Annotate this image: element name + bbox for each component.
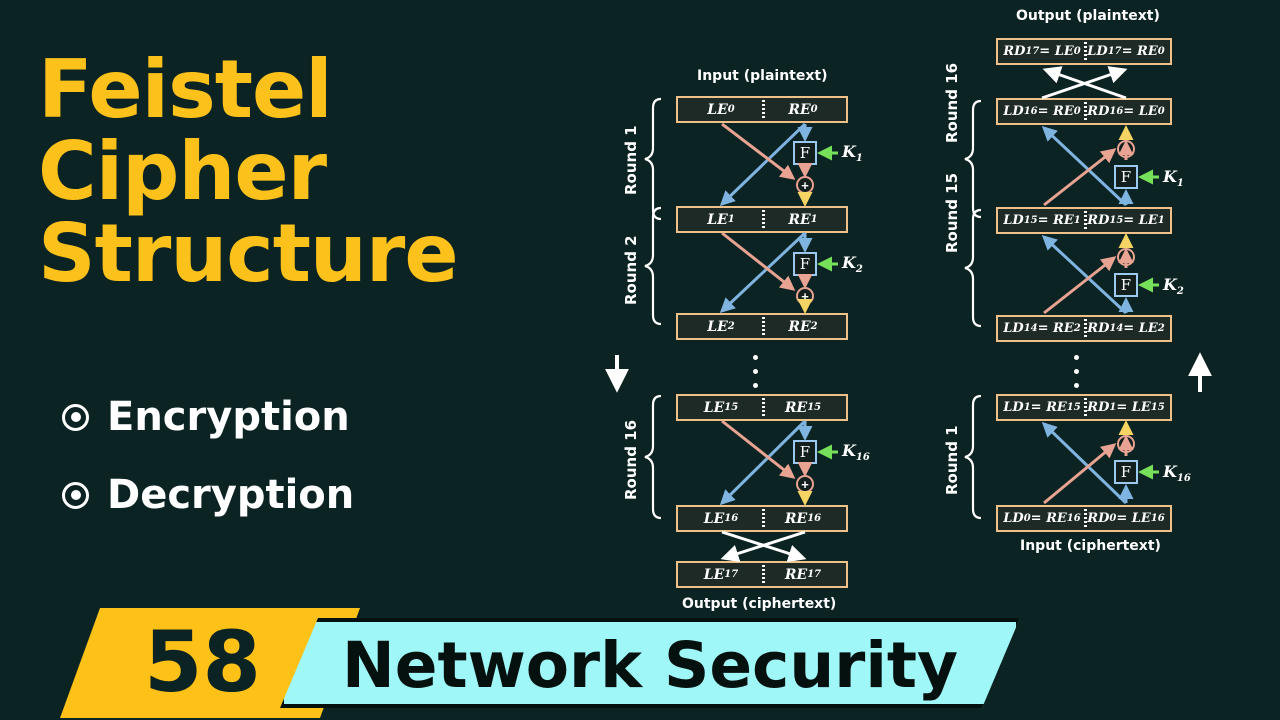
decryption-top-caption: Output (plaintext) [1016, 8, 1160, 24]
table-row: LD15= RE1 RD15= LE1 [996, 207, 1172, 234]
f-function-box: F [1114, 273, 1138, 297]
slide-root: Feistel Cipher Structure Encryption Decr… [0, 0, 1280, 720]
row-right-label: LD [1087, 44, 1107, 59]
key-label-k2: K2 [1163, 275, 1184, 297]
table-row: LD16= RE0 RD16= LE0 [996, 98, 1172, 125]
row-left-label: LD [1003, 213, 1023, 228]
row-right-label: RD [1087, 213, 1109, 228]
row-left-label: LD [1003, 400, 1023, 415]
key-label-k16: K16 [1163, 462, 1191, 484]
row-right-label: RD [1087, 400, 1109, 415]
xor-gate: + [1117, 248, 1135, 266]
row-left-label: LD [1003, 511, 1023, 526]
f-function-box: F [1114, 165, 1138, 189]
badge-number-label: 58 [144, 620, 261, 704]
bottom-banner: 58 Network Security [0, 604, 1280, 720]
decryption-round-label-1: Round 1 [943, 425, 961, 495]
row-right-label: RD [1087, 321, 1109, 336]
banner-title: Network Security [280, 618, 1020, 708]
row-right-label: RD [1087, 104, 1109, 119]
decryption-round-label-16: Round 16 [943, 63, 961, 143]
table-row: RD17= LE0 LD17= RE0 [996, 38, 1172, 65]
decryption-round-label-15: Round 15 [943, 173, 961, 253]
row-right-label: RD [1087, 511, 1109, 526]
decryption-diagram: Output (plaintext) Input (ciphertext) Ro… [0, 0, 1280, 620]
row-left-label: LD [1003, 321, 1023, 336]
ellipsis-vertical-icon [1074, 355, 1079, 397]
xor-gate: + [1117, 140, 1135, 158]
row-left-label: LD [1003, 104, 1023, 119]
decryption-bottom-caption: Input (ciphertext) [1020, 538, 1161, 554]
xor-gate: + [1117, 435, 1135, 453]
table-row: LD0= RE16 RD0= LE16 [996, 505, 1172, 532]
banner-title-label: Network Security [342, 624, 958, 708]
row-left-label: RD [1003, 44, 1025, 59]
key-label-k1: K1 [1163, 167, 1184, 189]
f-function-box: F [1114, 460, 1138, 484]
table-row: LD1= RE15 RD1= LE15 [996, 394, 1172, 421]
table-row: LD14= RE2 RD14= LE2 [996, 315, 1172, 342]
